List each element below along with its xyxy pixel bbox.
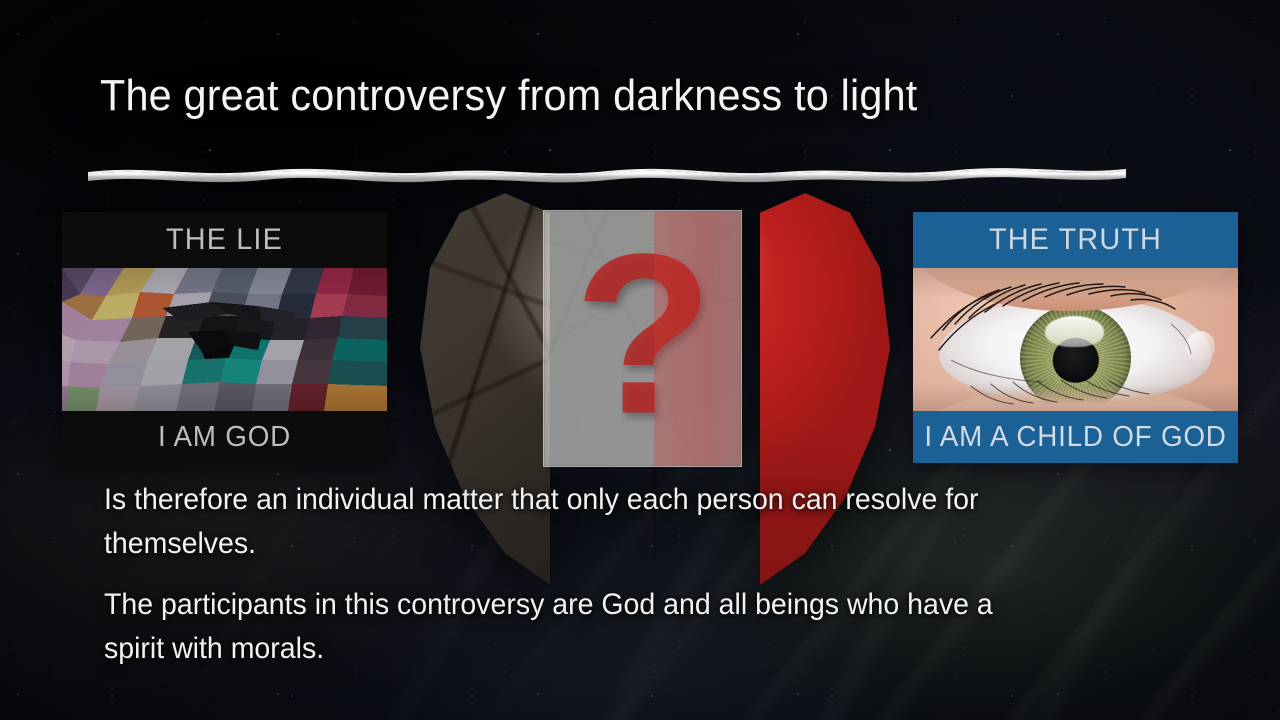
panel-lie-image xyxy=(62,268,387,411)
slide-body-text: Is therefore an individual matter that o… xyxy=(104,478,1045,672)
body-paragraph-1: Is therefore an individual matter that o… xyxy=(104,478,1045,567)
eyelash-group xyxy=(913,268,1238,411)
panel-truth-footer: I AM A CHILD OF GOD xyxy=(920,411,1232,463)
realistic-eye-icon xyxy=(913,268,1238,411)
panel-truth-heading: THE TRUTH xyxy=(920,212,1232,268)
presentation-slide: ? The great controversy from darkness to… xyxy=(0,0,1280,720)
body-paragraph-2: The participants in this controversy are… xyxy=(104,583,1045,672)
question-mark-plate: ? xyxy=(543,210,742,467)
panel-the-truth[interactable]: THE TRUTH xyxy=(913,212,1238,463)
panel-the-lie[interactable]: THE LIE xyxy=(62,212,387,463)
panel-lie-footer: I AM GOD xyxy=(69,411,381,463)
slide-title: The great controversy from darkness to l… xyxy=(100,71,1096,121)
panel-lie-heading: THE LIE xyxy=(69,212,381,268)
question-mark-icon: ? xyxy=(544,220,741,448)
panel-truth-image xyxy=(913,268,1238,411)
wavy-divider xyxy=(88,158,1126,190)
low-poly-eye-icon xyxy=(62,268,387,411)
